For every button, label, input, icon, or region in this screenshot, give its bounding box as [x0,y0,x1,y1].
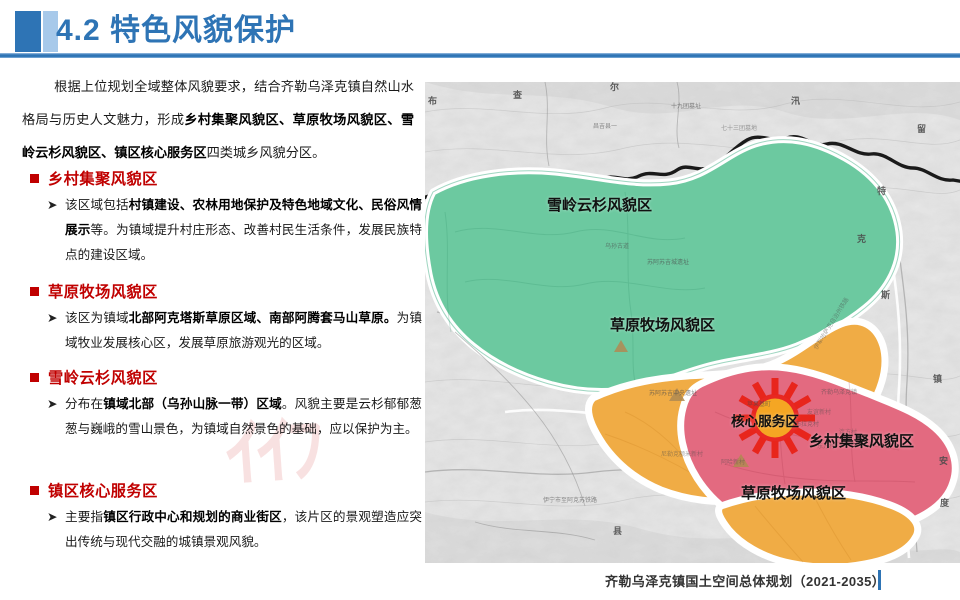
svg-text:尼勒克额米新村: 尼勒克额米新村 [661,450,703,458]
section-heading: 雪岭云杉风貌区 [30,366,422,388]
section-title: 雪岭云杉风貌区 [48,366,158,388]
section-title: 草原牧场风貌区 [48,280,158,302]
svg-text:安: 安 [939,455,948,467]
section-snow-spruce: 雪岭云杉风貌区 ➤ 分布在镇域北部（乌孙山脉一带）区域。风貌主要是云杉郁郁葱葱与… [22,366,422,442]
section-body: ➤ 该区域包括村镇建设、农林用地保护及特色地域文化、民俗风情展示等。为镇域提升村… [47,193,422,268]
section-body-text: 分布在镇域北部（乌孙山脉一带）区域。风貌主要是云杉郁郁葱葱与巍峨的雪山景色，为镇… [65,392,422,442]
slide-root: 4.2 特色风貌保护 ｲｲﾌ 根据上位规划全域整体风貌要求，结合齐勒乌泽克镇自然… [0,0,960,600]
body-pre: 分布在 [65,397,103,411]
section-town-core-service: 镇区核心服务区 ➤ 主要指镇区行政中心和规划的商业街区，该片区的景观塑造应突出传… [22,479,422,555]
svg-text:十九团墓址: 十九团墓址 [671,102,701,110]
footer-accent-tick [878,570,881,590]
svg-text:布: 布 [427,95,437,107]
section-body-text: 该区域包括村镇建设、农林用地保护及特色地域文化、民俗风情展示等。为镇域提升村庄形… [65,193,422,268]
header-accent-bar-dark [15,11,41,52]
footer-document-title: 齐勒乌泽克镇国土空间总体规划（2021-2035） [605,571,885,590]
section-body-text: 该区为镇域北部阿克塔斯草原区域、南部阿腾套马山草原。为镇域牧业发展核心区，发展草… [65,306,422,356]
svg-text:县: 县 [613,526,622,537]
slide-header: 4.2 特色风貌保护 [0,0,960,62]
svg-text:留: 留 [917,123,926,135]
svg-text:齐勒乌泽克镇: 齐勒乌泽克镇 [821,388,857,396]
arrow-bullet-icon: ➤ [47,306,65,356]
map-label-grassland-zone-south: 草原牧场风貌区 [741,482,846,503]
section-body: ➤ 分布在镇域北部（乌孙山脉一带）区域。风貌主要是云杉郁郁葱葱与巍峨的雪山景色，… [47,392,422,442]
page-title: 4.2 特色风貌保护 [56,8,656,54]
svg-text:度: 度 [940,497,950,509]
svg-text:伊宁市至阿克苏铁路: 伊宁市至阿克苏铁路 [543,496,597,504]
slide-footer: 齐勒乌泽克镇国土空间总体规划（2021-2035） [0,563,960,600]
body-bold: 北部阿克塔斯草原区域、南部阿腾套马山草原。 [129,311,397,325]
map-label-core-service: 核心服务区 [731,410,799,430]
svg-text:苏阿苏吉中央遗址: 苏阿苏吉中央遗址 [649,389,697,397]
section-body: ➤ 该区为镇域北部阿克塔斯草原区域、南部阿腾套马山草原。为镇域牧业发展核心区，发… [47,306,422,356]
svg-text:尔: 尔 [609,82,619,93]
svg-text:阿哈新村: 阿哈新村 [721,458,745,466]
body-pre: 该区域包括 [65,198,129,212]
intro-paragraph: 根据上位规划全域整体风貌要求，结合齐勒乌泽克镇自然山水格局与历史人文魅力，形成乡… [22,70,414,169]
svg-text:七十三团墓地: 七十三团墓地 [721,124,757,132]
body-post: 等。为镇域提升村庄形态、改善村民生活条件，发展民族特点的建设区域。 [65,223,422,262]
square-bullet-icon [30,174,39,183]
body-bold: 镇区行政中心和规划的商业街区 [103,510,282,524]
map-label-grassland-zone-north: 草原牧场风貌区 [610,314,715,335]
text-column: ｲｲﾌ 根据上位规划全域整体风貌要求，结合齐勒乌泽克镇自然山水格局与历史人文魅力… [0,62,425,600]
section-grassland-pasture: 草原牧场风貌区 ➤ 该区为镇域北部阿克塔斯草原区域、南部阿腾套马山草原。为镇域牧… [22,280,422,356]
svg-text:斯: 斯 [881,289,890,301]
map-label-snow-spruce-zone: 雪岭云杉风貌区 [547,194,652,215]
section-heading: 乡村集聚风貌区 [30,167,422,189]
landscape-zoning-map: 布 查 尔 汛 留 特 克 斯 镇 安 度 县 昌吉县一 十九团墓址 七十三团墓… [425,82,960,563]
svg-text:苏阿苏吉城遗址: 苏阿苏吉城遗址 [647,258,689,266]
section-title: 镇区核心服务区 [48,479,158,501]
arrow-bullet-icon: ➤ [47,392,65,442]
svg-text:友谊新村: 友谊新村 [807,408,831,416]
body-pre: 主要指 [65,510,103,524]
arrow-bullet-icon: ➤ [47,193,65,268]
intro-text-tail: 四类城乡风貌分区。 [207,145,326,160]
arrow-bullet-icon: ➤ [47,505,65,555]
section-rural-village: 乡村集聚风貌区 ➤ 该区域包括村镇建设、农林用地保护及特色地域文化、民俗风情展示… [22,167,422,268]
svg-text:汛: 汛 [791,95,800,107]
square-bullet-icon [30,486,39,495]
section-body-text: 主要指镇区行政中心和规划的商业街区，该片区的景观塑造应突出传统与现代交融的城镇景… [65,505,422,555]
body-pre: 该区为镇域 [65,311,129,325]
svg-text:特: 特 [877,185,886,197]
svg-text:查: 查 [512,89,523,101]
svg-text:镇: 镇 [933,373,942,385]
square-bullet-icon [30,287,39,296]
svg-text:昌吉县一: 昌吉县一 [593,123,617,130]
section-body: ➤ 主要指镇区行政中心和规划的商业街区，该片区的景观塑造应突出传统与现代交融的城… [47,505,422,555]
section-heading: 镇区核心服务区 [30,479,422,501]
svg-text:乌孙古道: 乌孙古道 [605,242,629,250]
map-label-village-cluster-zone: 乡村集聚风貌区 [809,430,914,451]
section-title: 乡村集聚风貌区 [48,167,158,189]
svg-text:苹果基町: 苹果基町 [747,400,771,408]
svg-text:克: 克 [857,233,866,245]
header-divider-rule [0,53,960,58]
section-heading: 草原牧场风貌区 [30,280,422,302]
body-bold: 镇域北部（乌孙山脉一带）区域 [103,397,282,411]
square-bullet-icon [30,373,39,382]
